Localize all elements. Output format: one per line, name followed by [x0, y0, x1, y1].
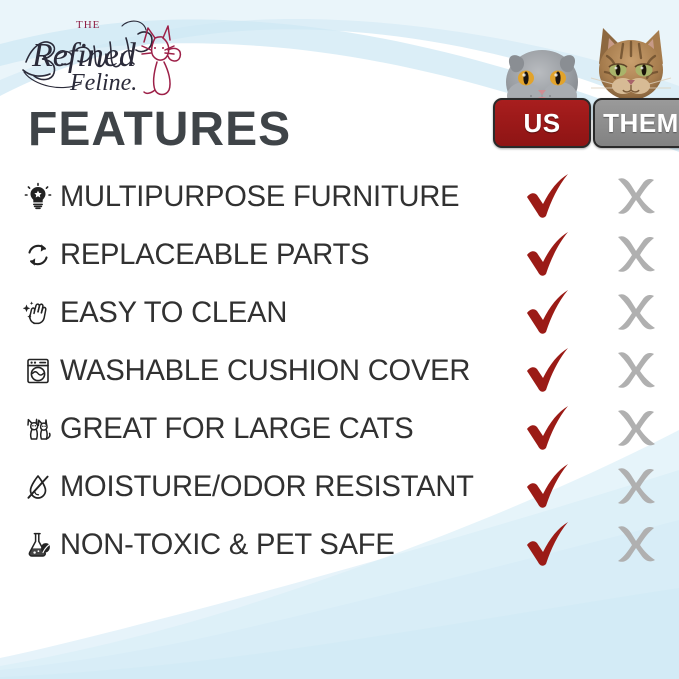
no-water-drop-icon [16, 472, 60, 502]
logo-feline-text: Feline. [69, 70, 137, 96]
features-list: MULTIPURPOSE FURNITURE REPLACEABLE PARTS [0, 168, 679, 574]
feature-row: EASY TO CLEAN [0, 284, 679, 342]
cross-mark-icon [613, 175, 659, 219]
them-button-label: THEM [603, 108, 679, 139]
feature-row: NON-TOXIC & PET SAFE [0, 516, 679, 574]
feature-comparison-infographic: THE Refined Feline. [0, 0, 679, 679]
flask-leaf-icon [16, 530, 60, 560]
check-mark-icon [524, 522, 572, 568]
feature-label: REPLACEABLE PARTS [60, 238, 369, 272]
cross-mark-icon [613, 465, 659, 509]
them-button[interactable]: THEM [593, 98, 679, 148]
check-mark-icon [524, 290, 572, 336]
logo-cat-icon [142, 26, 180, 95]
feature-label: NON-TOXIC & PET SAFE [60, 528, 395, 562]
comparison-header: US THEM [488, 18, 679, 148]
check-mark-icon [524, 406, 572, 452]
cross-mark-icon [613, 233, 659, 277]
logo-the-text: THE [76, 19, 100, 31]
feature-row: WASHABLE CUSHION COVER [0, 342, 679, 400]
us-button-label: US [523, 108, 560, 139]
check-mark-icon [524, 348, 572, 394]
check-mark-icon [524, 232, 572, 278]
feature-row: MOISTURE/ODOR RESISTANT [0, 458, 679, 516]
check-mark-icon [524, 174, 572, 220]
cross-mark-icon [613, 523, 659, 567]
two-cats-icon [16, 414, 60, 444]
feature-label: GREAT FOR LARGE CATS [60, 412, 413, 446]
feature-row: REPLACEABLE PARTS [0, 226, 679, 284]
feature-label: WASHABLE CUSHION COVER [60, 354, 470, 388]
feature-label: EASY TO CLEAN [60, 296, 287, 330]
cross-mark-icon [613, 407, 659, 451]
feature-label: MULTIPURPOSE FURNITURE [60, 180, 459, 214]
feature-label: MOISTURE/ODOR RESISTANT [60, 470, 474, 504]
feature-row: MULTIPURPOSE FURNITURE [0, 168, 679, 226]
feature-row: GREAT FOR LARGE CATS [0, 400, 679, 458]
logo-script-text: THE Refined Feline. [23, 19, 152, 96]
lightbulb-star-icon [16, 182, 60, 212]
washing-machine-icon [16, 356, 60, 386]
recycle-arrows-icon [16, 240, 60, 270]
us-button[interactable]: US [493, 98, 591, 148]
cross-mark-icon [613, 291, 659, 335]
logo-refined-text: Refined [31, 37, 137, 74]
wiping-hand-sparkle-icon [16, 298, 60, 328]
page-title: FEATURES [28, 106, 291, 154]
brand-logo: THE Refined Feline. [18, 10, 193, 98]
cross-mark-icon [613, 349, 659, 393]
check-mark-icon [524, 464, 572, 510]
